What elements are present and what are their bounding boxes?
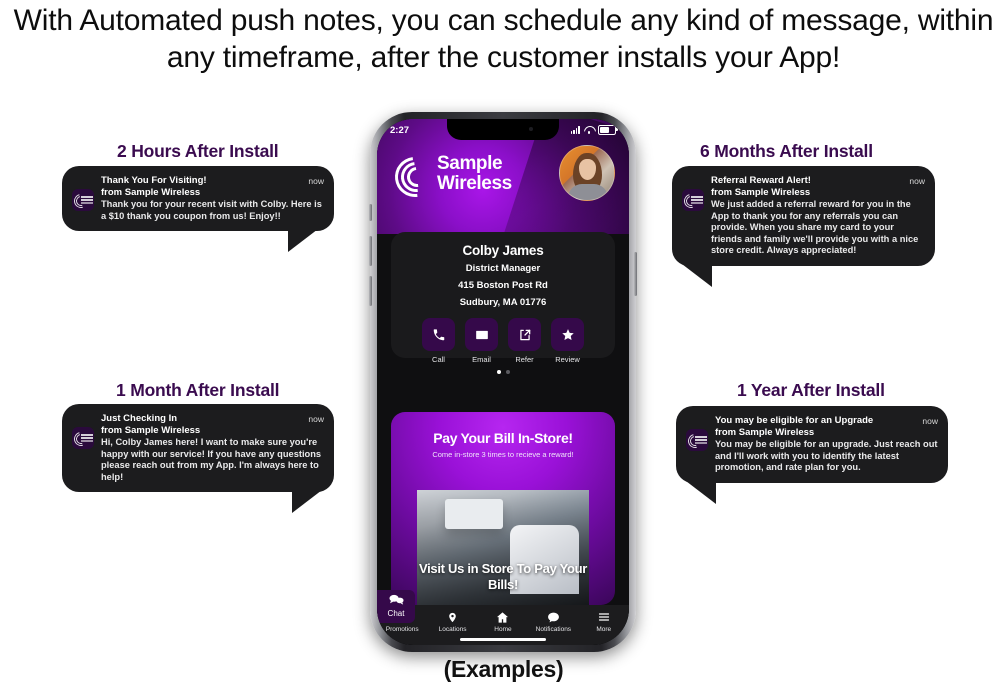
notification-from: from Sample Wireless bbox=[101, 425, 324, 437]
phone-icon bbox=[422, 318, 455, 351]
carousel-dot-1[interactable] bbox=[497, 370, 501, 374]
notification-time: now bbox=[308, 175, 324, 187]
contact-actions: Call Email Refer bbox=[391, 318, 615, 364]
nav-item-more[interactable]: More bbox=[580, 610, 628, 633]
from-label: from bbox=[101, 187, 122, 198]
phone-mockup: Sample Wireless 2:27 bbox=[370, 112, 636, 652]
volume-down-button[interactable] bbox=[369, 276, 372, 306]
bubble-tail bbox=[678, 261, 712, 287]
home-indicator[interactable] bbox=[460, 638, 546, 642]
chat-button-label: Chat bbox=[377, 609, 415, 618]
bubble-tail bbox=[288, 226, 322, 252]
battery-icon bbox=[598, 125, 616, 135]
action-review[interactable]: Review bbox=[551, 318, 584, 364]
map-pin-icon bbox=[429, 610, 477, 624]
promo-subtitle: Come in-store 3 times to recieve a rewar… bbox=[401, 450, 605, 459]
brand-lockup: Sample Wireless bbox=[395, 154, 512, 194]
status-bar: 2:27 bbox=[377, 119, 629, 141]
action-call[interactable]: Call bbox=[422, 318, 455, 364]
chat-icon bbox=[529, 610, 577, 624]
wifi-icon bbox=[584, 126, 594, 134]
from-org: Sample Wireless bbox=[739, 427, 814, 438]
brand-name: Sample Wireless bbox=[437, 154, 512, 194]
brand-line-1: Sample bbox=[437, 153, 502, 174]
sample-wireless-app-icon bbox=[72, 427, 94, 449]
nav-label-locations: Locations bbox=[429, 626, 477, 633]
contact-card: Colby James District Manager 415 Boston … bbox=[391, 232, 615, 358]
notification-card-6-months[interactable]: Referral Reward Alert! now from Sample W… bbox=[672, 166, 935, 266]
swoosh-logo-icon bbox=[395, 154, 431, 194]
chat-button[interactable]: Chat bbox=[377, 590, 415, 623]
notification-title: You may be eligible for an Upgrade bbox=[715, 415, 873, 427]
nav-label-promotions: Promotions bbox=[378, 626, 426, 633]
notification-time: now bbox=[922, 415, 938, 427]
action-email[interactable]: Email bbox=[465, 318, 498, 364]
notification-time: now bbox=[308, 413, 324, 425]
cellular-signal-icon bbox=[571, 126, 580, 134]
notification-title: Thank You For Visiting! bbox=[101, 175, 207, 187]
from-label: from bbox=[711, 187, 732, 198]
headline-line-1: With Automated push notes, you can sched… bbox=[14, 4, 994, 37]
caption-6-months-after-install: 6 Months After Install bbox=[700, 141, 873, 162]
nav-item-locations[interactable]: Locations bbox=[429, 610, 477, 633]
page-title: With Automated push notes, you can sched… bbox=[0, 2, 1007, 76]
notification-title: Just Checking In bbox=[101, 413, 177, 425]
caption-1-year-after-install: 1 Year After Install bbox=[737, 380, 885, 401]
notification-title: Referral Reward Alert! bbox=[711, 175, 811, 187]
notification-time: now bbox=[909, 175, 925, 187]
notification-message: We just added a referral reward for you … bbox=[711, 199, 925, 257]
nav-label-home: Home bbox=[479, 626, 527, 633]
notification-card-1-year[interactable]: You may be eligible for an Upgrade now f… bbox=[676, 406, 948, 483]
caption-1-month-after-install: 1 Month After Install bbox=[116, 380, 279, 401]
examples-caption: (Examples) bbox=[0, 656, 1007, 683]
contact-address-line-2: Sudbury, MA 01776 bbox=[391, 297, 615, 308]
star-icon bbox=[551, 318, 584, 351]
nav-label-more: More bbox=[580, 626, 628, 633]
from-label: from bbox=[715, 427, 736, 438]
contact-title: District Manager bbox=[391, 263, 615, 274]
from-org: Sample Wireless bbox=[125, 425, 200, 436]
avatar[interactable] bbox=[559, 145, 615, 201]
slide-canvas: With Automated push notes, you can sched… bbox=[0, 0, 1007, 693]
action-refer[interactable]: Refer bbox=[508, 318, 541, 364]
promo-title: Pay Your Bill In-Store! bbox=[401, 430, 605, 446]
chat-bubbles-icon bbox=[377, 594, 415, 607]
status-time: 2:27 bbox=[390, 125, 409, 136]
action-call-label: Call bbox=[422, 355, 455, 364]
hamburger-icon bbox=[580, 610, 628, 624]
notification-message: Thank you for your recent visit with Col… bbox=[101, 199, 324, 222]
bubble-tail bbox=[682, 478, 716, 504]
contact-address-line-1: 415 Boston Post Rd bbox=[391, 280, 615, 291]
notification-from: from Sample Wireless bbox=[715, 427, 938, 439]
action-email-label: Email bbox=[465, 355, 498, 364]
carousel-dot-2[interactable] bbox=[506, 370, 510, 374]
nav-label-notifications: Notifications bbox=[529, 626, 577, 633]
from-label: from bbox=[101, 425, 122, 436]
notification-card-1-month[interactable]: Just Checking In now from Sample Wireles… bbox=[62, 404, 334, 492]
mute-switch[interactable] bbox=[369, 204, 372, 221]
power-button[interactable] bbox=[634, 252, 637, 296]
bubble-tail bbox=[292, 487, 326, 513]
nav-item-home[interactable]: Home bbox=[479, 610, 527, 633]
promo-card[interactable]: Pay Your Bill In-Store! Come in-store 3 … bbox=[391, 412, 615, 605]
promo-footer: Visit Us in Store To Pay Your Bills! bbox=[391, 553, 615, 605]
sample-wireless-app-icon bbox=[682, 189, 704, 211]
phone-screen: Sample Wireless 2:27 bbox=[377, 119, 629, 645]
home-icon bbox=[479, 610, 527, 624]
carousel-dots[interactable] bbox=[391, 370, 615, 374]
notification-from: from Sample Wireless bbox=[711, 187, 925, 199]
caption-2-hours-after-install: 2 Hours After Install bbox=[117, 141, 278, 162]
volume-up-button[interactable] bbox=[369, 236, 372, 266]
share-icon bbox=[508, 318, 541, 351]
from-org: Sample Wireless bbox=[735, 187, 810, 198]
envelope-icon bbox=[465, 318, 498, 351]
from-org: Sample Wireless bbox=[125, 187, 200, 198]
sample-wireless-app-icon bbox=[686, 429, 708, 451]
notification-message: You may be eligible for an upgrade. Just… bbox=[715, 439, 938, 474]
headline-line-2: any timeframe, after the customer instal… bbox=[0, 39, 1007, 76]
nav-item-notifications[interactable]: Notifications bbox=[529, 610, 577, 633]
notification-message: Hi, Colby James here! I want to make sur… bbox=[101, 437, 324, 483]
brand-line-2: Wireless bbox=[437, 173, 512, 194]
contact-name: Colby James bbox=[391, 243, 615, 258]
notification-from: from Sample Wireless bbox=[101, 187, 324, 199]
action-refer-label: Refer bbox=[508, 355, 541, 364]
action-review-label: Review bbox=[551, 355, 584, 364]
notification-card-2-hours[interactable]: Thank You For Visiting! now from Sample … bbox=[62, 166, 334, 231]
sample-wireless-app-icon bbox=[72, 189, 94, 211]
